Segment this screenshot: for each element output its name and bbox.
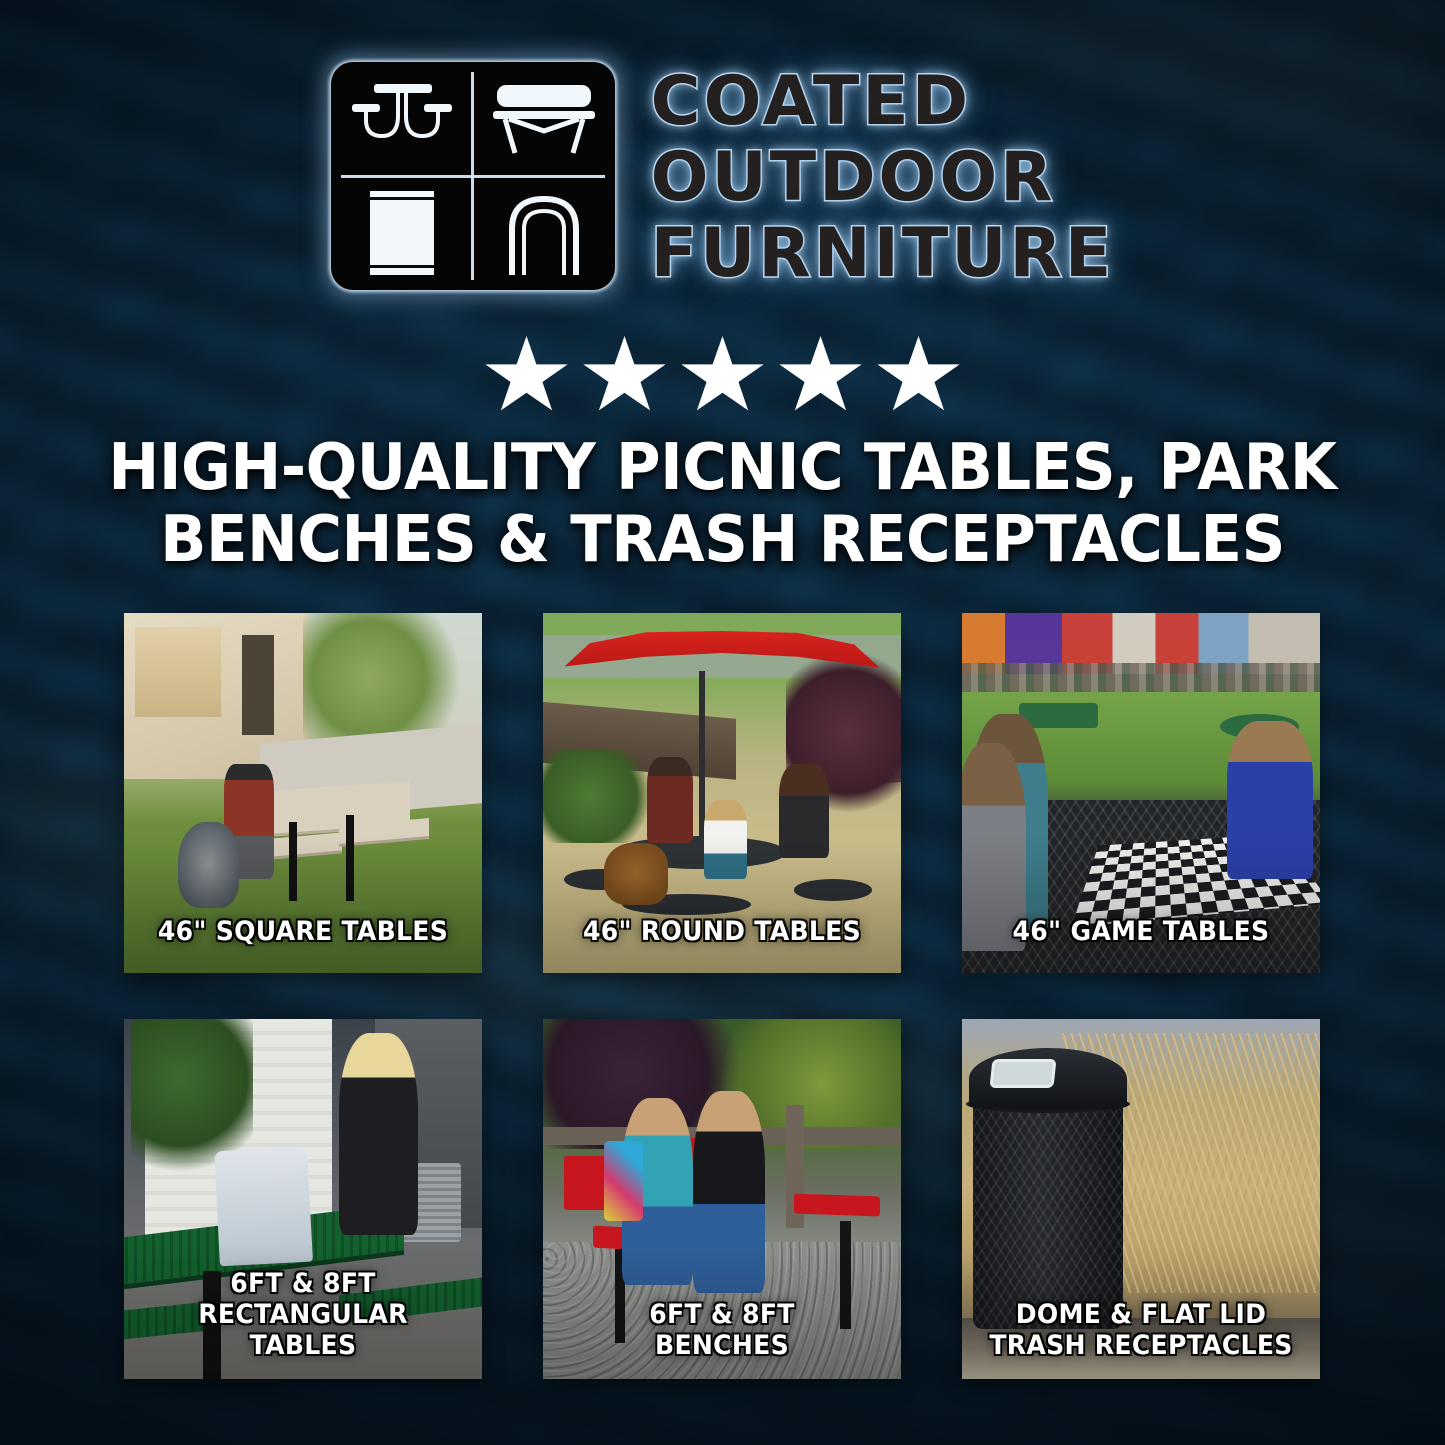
caption-line-2: RECTANGULAR TABLES (142, 1299, 464, 1361)
product-caption: 46" SQUARE TABLES (142, 916, 464, 947)
product-tile-trash-receptacles[interactable]: DOME & FLAT LID TRASH RECEPTACLES (962, 1019, 1320, 1379)
caption-line-1: 46" ROUND TABLES (561, 916, 883, 947)
logo-divider-horizontal (341, 175, 605, 178)
brand-lockup: COATED OUTDOOR FURNITURE (0, 62, 1445, 292)
product-caption: 6FT & 8FT BENCHES (561, 1299, 883, 1361)
brand-wordmark: COATED OUTDOOR FURNITURE (651, 62, 1115, 292)
headline: HIGH-QUALITY PICNIC TABLES, PARK BENCHES… (93, 432, 1352, 576)
product-tile-round-tables[interactable]: 46" ROUND TABLES (543, 613, 901, 973)
product-caption: DOME & FLAT LID TRASH RECEPTACLES (980, 1299, 1302, 1361)
star-icon (877, 336, 961, 416)
brand-logo-mark (331, 62, 615, 290)
star-icon (681, 336, 765, 416)
star-rating (0, 336, 1445, 416)
product-tile-benches[interactable]: 6FT & 8FT BENCHES (543, 1019, 901, 1379)
star-icon (485, 336, 569, 416)
product-grid: 46" SQUARE TABLES 46" ROUND TABLES (124, 613, 1322, 1379)
caption-line-2: TRASH RECEPTACLES (980, 1330, 1302, 1361)
headline-line-2: BENCHES & TRASH RECEPTACLES (93, 504, 1352, 576)
product-caption: 46" GAME TABLES (980, 916, 1302, 947)
picnic-table-icon (331, 62, 473, 176)
star-icon (779, 336, 863, 416)
caption-line-1: 6FT & 8FT (142, 1268, 464, 1299)
trash-receptacle-icon (331, 176, 473, 290)
star-icon (583, 336, 667, 416)
brand-word-outdoor: OUTDOOR (651, 140, 1115, 216)
bike-rack-arch-icon (473, 176, 615, 290)
bench-icon (473, 62, 615, 176)
product-tile-square-tables[interactable]: 46" SQUARE TABLES (124, 613, 482, 973)
product-tile-rectangular-tables[interactable]: 6FT & 8FT RECTANGULAR TABLES (124, 1019, 482, 1379)
caption-line-1: 46" SQUARE TABLES (142, 916, 464, 947)
product-caption: 6FT & 8FT RECTANGULAR TABLES (142, 1268, 464, 1361)
headline-line-1: HIGH-QUALITY PICNIC TABLES, PARK (93, 432, 1352, 504)
product-tile-game-tables[interactable]: 46" GAME TABLES (962, 613, 1320, 973)
brand-word-furniture: FURNITURE (651, 216, 1115, 292)
caption-line-1: DOME & FLAT LID (980, 1299, 1302, 1330)
brand-word-coated: COATED (651, 64, 1115, 140)
caption-line-2: BENCHES (561, 1330, 883, 1361)
product-caption: 46" ROUND TABLES (561, 916, 883, 947)
caption-line-1: 6FT & 8FT (561, 1299, 883, 1330)
caption-line-1: 46" GAME TABLES (980, 916, 1302, 947)
promo-banner: COATED OUTDOOR FURNITURE HIGH-QUALITY PI… (0, 0, 1445, 1445)
